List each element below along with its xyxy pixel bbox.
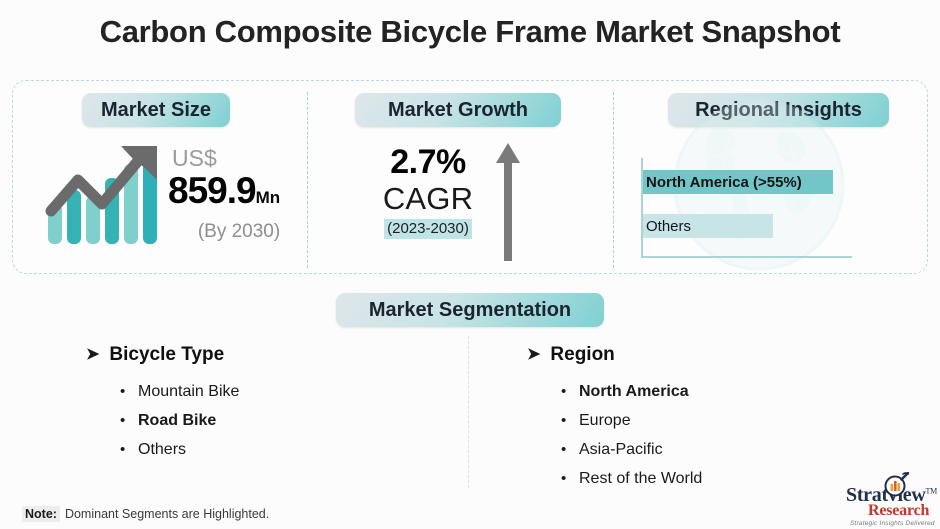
segmentation-heading-region: ➤ Region bbox=[527, 343, 702, 367]
bullet-dot-icon: • bbox=[120, 377, 138, 406]
magnifier-bar-chart-icon bbox=[884, 472, 910, 498]
market-growth-value-block: 2.7% CAGR (2023-2030) bbox=[372, 143, 484, 239]
note-label: Note: bbox=[22, 506, 60, 522]
bullet-dot-icon: • bbox=[120, 435, 138, 464]
list-item: • Road Bike bbox=[120, 406, 239, 435]
arrow-bullet-icon: ➤ bbox=[527, 343, 540, 367]
footer-note: Note: Dominant Segments are Highlighted. bbox=[22, 506, 269, 522]
list-item: • Europe bbox=[561, 406, 702, 435]
segment-label: Road Bike bbox=[138, 406, 216, 435]
up-arrow-icon bbox=[495, 143, 521, 261]
bar-chart-growth-arrow-icon bbox=[44, 142, 168, 244]
cagr-period: (2023-2030) bbox=[384, 219, 472, 239]
market-size-unit: Mn bbox=[256, 188, 281, 207]
market-size-currency: US$ bbox=[168, 145, 304, 171]
bullet-dot-icon: • bbox=[120, 406, 138, 435]
market-size-value-row: 859.9Mn bbox=[168, 171, 304, 218]
regional-chart-x-axis bbox=[641, 256, 852, 258]
segment-label: Others bbox=[138, 435, 186, 464]
bullet-dot-icon: • bbox=[561, 464, 579, 493]
bullet-dot-icon: • bbox=[561, 406, 579, 435]
market-size-value-block: US$ 859.9Mn (By 2030) bbox=[168, 145, 304, 246]
logo-sub-name: Research bbox=[868, 502, 929, 520]
list-item: • Others bbox=[120, 435, 239, 464]
regional-bar-label-north-america: North America (>55%) bbox=[643, 174, 802, 191]
list-item: • North America bbox=[561, 377, 702, 406]
segmentation-column-bicycle-type: ➤ Bicycle Type • Mountain Bike • Road Bi… bbox=[86, 343, 239, 464]
note-text: Dominant Segments are Highlighted. bbox=[65, 507, 269, 521]
segmentation-heading-bicycle-type: ➤ Bicycle Type bbox=[86, 343, 239, 367]
panel-divider-2 bbox=[613, 92, 614, 268]
list-item: • Mountain Bike bbox=[120, 377, 239, 406]
segmentation-list-region: • North America • Europe • Asia-Pacific … bbox=[527, 377, 702, 493]
regional-bar-label-others: Others bbox=[643, 218, 691, 235]
regional-bar-north-america: North America (>55%) bbox=[643, 170, 833, 194]
market-segmentation-pill: Market Segmentation bbox=[336, 293, 604, 327]
segment-label: Europe bbox=[579, 406, 631, 435]
segmentation-column-region: ➤ Region • North America • Europe • Asia… bbox=[527, 343, 702, 493]
segmentation-list-bicycle-type: • Mountain Bike • Road Bike • Others bbox=[86, 377, 239, 464]
segment-label: Rest of the World bbox=[579, 464, 702, 493]
bullet-dot-icon: • bbox=[561, 435, 579, 464]
logo-trademark: TM bbox=[926, 486, 937, 495]
stratview-research-logo: StratviewTM Research Strategic Insights … bbox=[846, 476, 938, 526]
cagr-percent: 2.7% bbox=[372, 143, 484, 181]
segmentation-heading-label: Region bbox=[550, 343, 614, 367]
market-size-value: 859.9 bbox=[168, 170, 256, 211]
infographic-canvas: Carbon Composite Bicycle Frame Market Sn… bbox=[0, 0, 940, 529]
list-item: • Rest of the World bbox=[561, 464, 702, 493]
segment-label: Asia-Pacific bbox=[579, 435, 663, 464]
market-size-pill: Market Size bbox=[82, 93, 230, 127]
regional-bar-others: Others bbox=[643, 214, 773, 238]
segmentation-divider bbox=[468, 336, 469, 488]
segment-label: North America bbox=[579, 377, 689, 406]
arrow-bullet-icon: ➤ bbox=[86, 343, 99, 367]
market-size-period: (By 2030) bbox=[168, 218, 304, 246]
bullet-dot-icon: • bbox=[561, 377, 579, 406]
segmentation-heading-label: Bicycle Type bbox=[109, 343, 224, 367]
cagr-label: CAGR bbox=[372, 181, 484, 217]
logo-tagline: Strategic Insights Delivered bbox=[850, 520, 935, 527]
list-item: • Asia-Pacific bbox=[561, 435, 702, 464]
segment-label: Mountain Bike bbox=[138, 377, 239, 406]
panel-divider-1 bbox=[307, 92, 308, 268]
market-growth-pill: Market Growth bbox=[355, 93, 561, 127]
page-title: Carbon Composite Bicycle Frame Market Sn… bbox=[0, 14, 940, 50]
